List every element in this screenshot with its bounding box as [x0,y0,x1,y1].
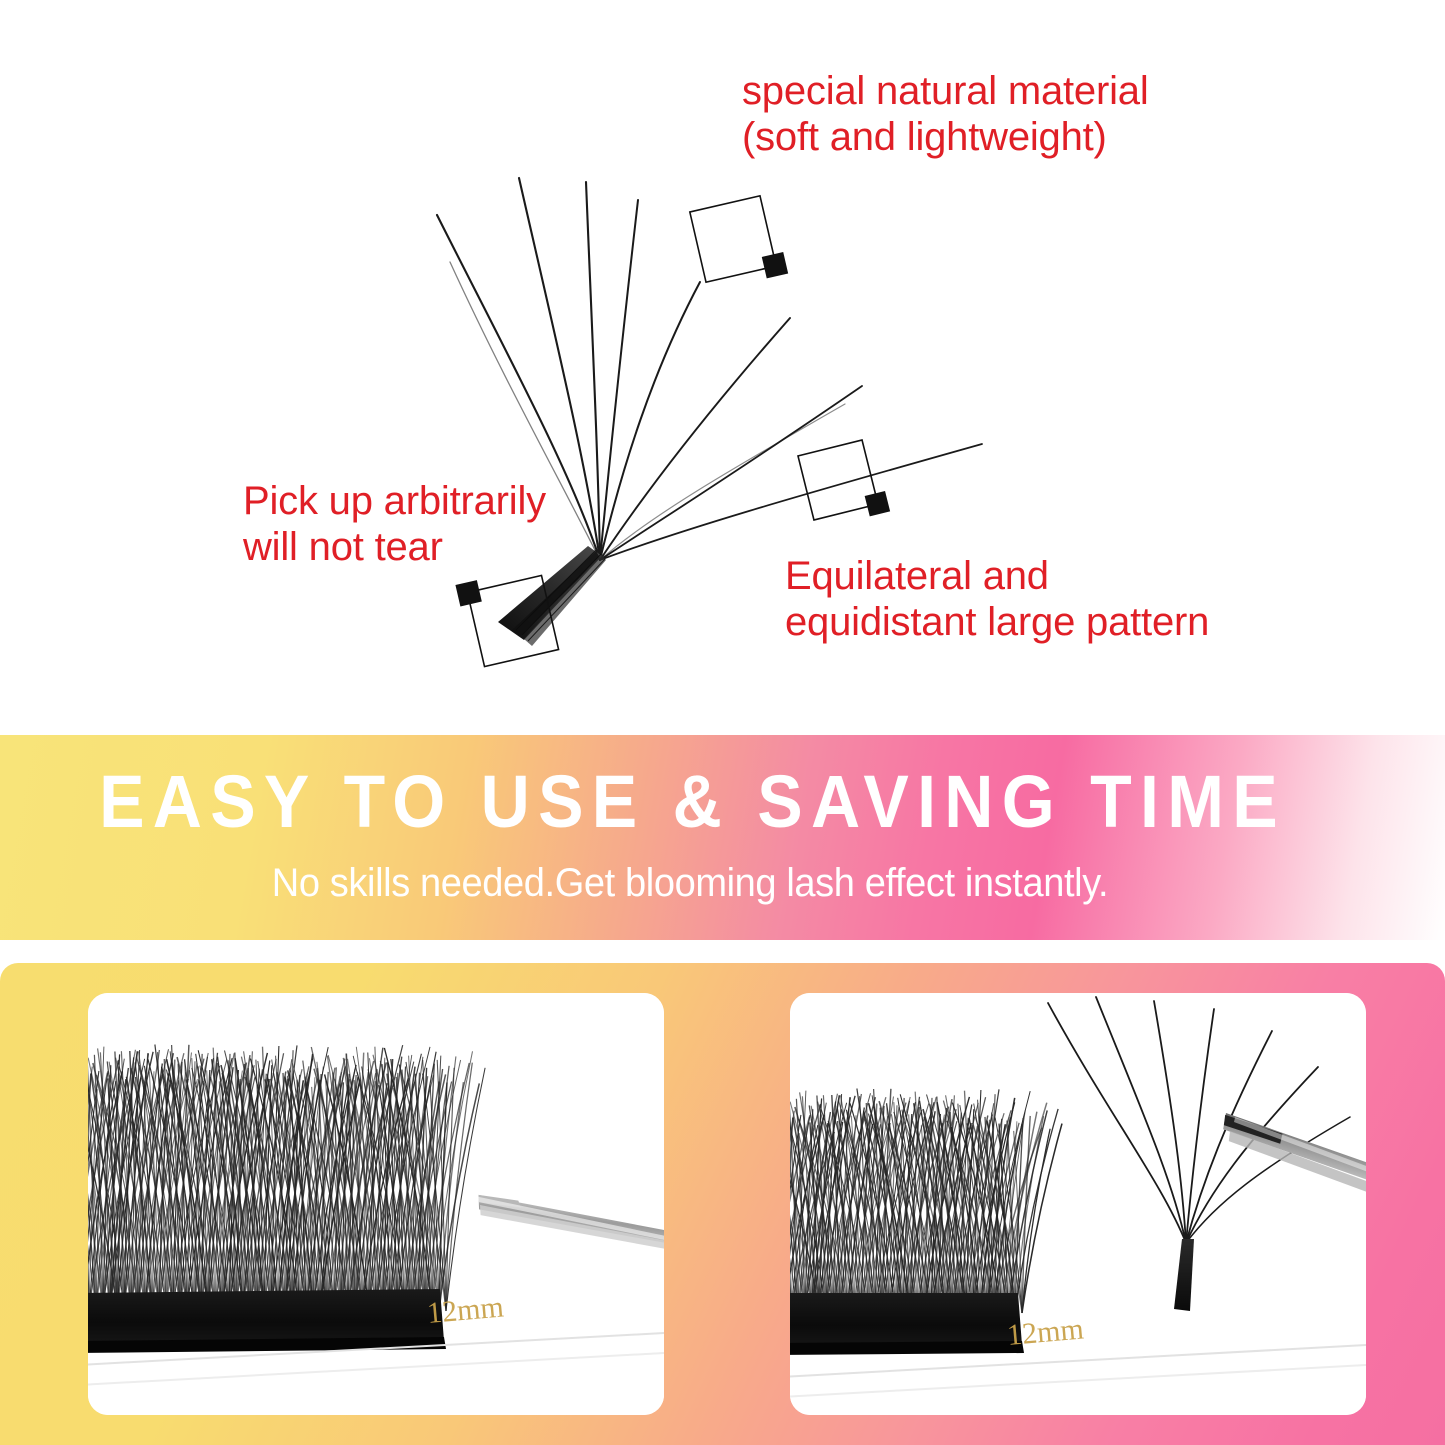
banner-subtitle: No skills needed.Get blooming lash effec… [35,861,1346,906]
photo-left-caption: 12mm [426,1290,505,1330]
callout-pick-up-arbitrarily: Pick up arbitrarily will not tear [243,478,546,571]
photo-right-caption: 12mm [1006,1312,1085,1352]
photo-left-graphic: 12mm [88,993,664,1415]
callout-equilateral-equidistant: Equilateral and equidistant large patter… [785,553,1209,646]
svg-text:12mm: 12mm [1006,1312,1085,1352]
photo-right-graphic: 12mm [790,993,1366,1415]
photo-lash-fan-picked-by-tweezers: 12mm [790,993,1366,1415]
promo-banner: EASY TO USE & SAVING TIME No skills need… [0,735,1445,940]
banner-headline: EASY TO USE & SAVING TIME [55,759,1329,844]
bottom-photo-panel: 12mm [0,963,1445,1445]
svg-text:12mm: 12mm [426,1290,505,1330]
marker-box-top-right [690,194,788,292]
photo-lash-tray-with-tweezers: 12mm [88,993,664,1415]
lash-fan-diagram [0,0,1445,735]
callout-special-natural-material: special natural material (soft and light… [742,68,1149,161]
top-diagram-section: special natural material (soft and light… [0,0,1445,735]
